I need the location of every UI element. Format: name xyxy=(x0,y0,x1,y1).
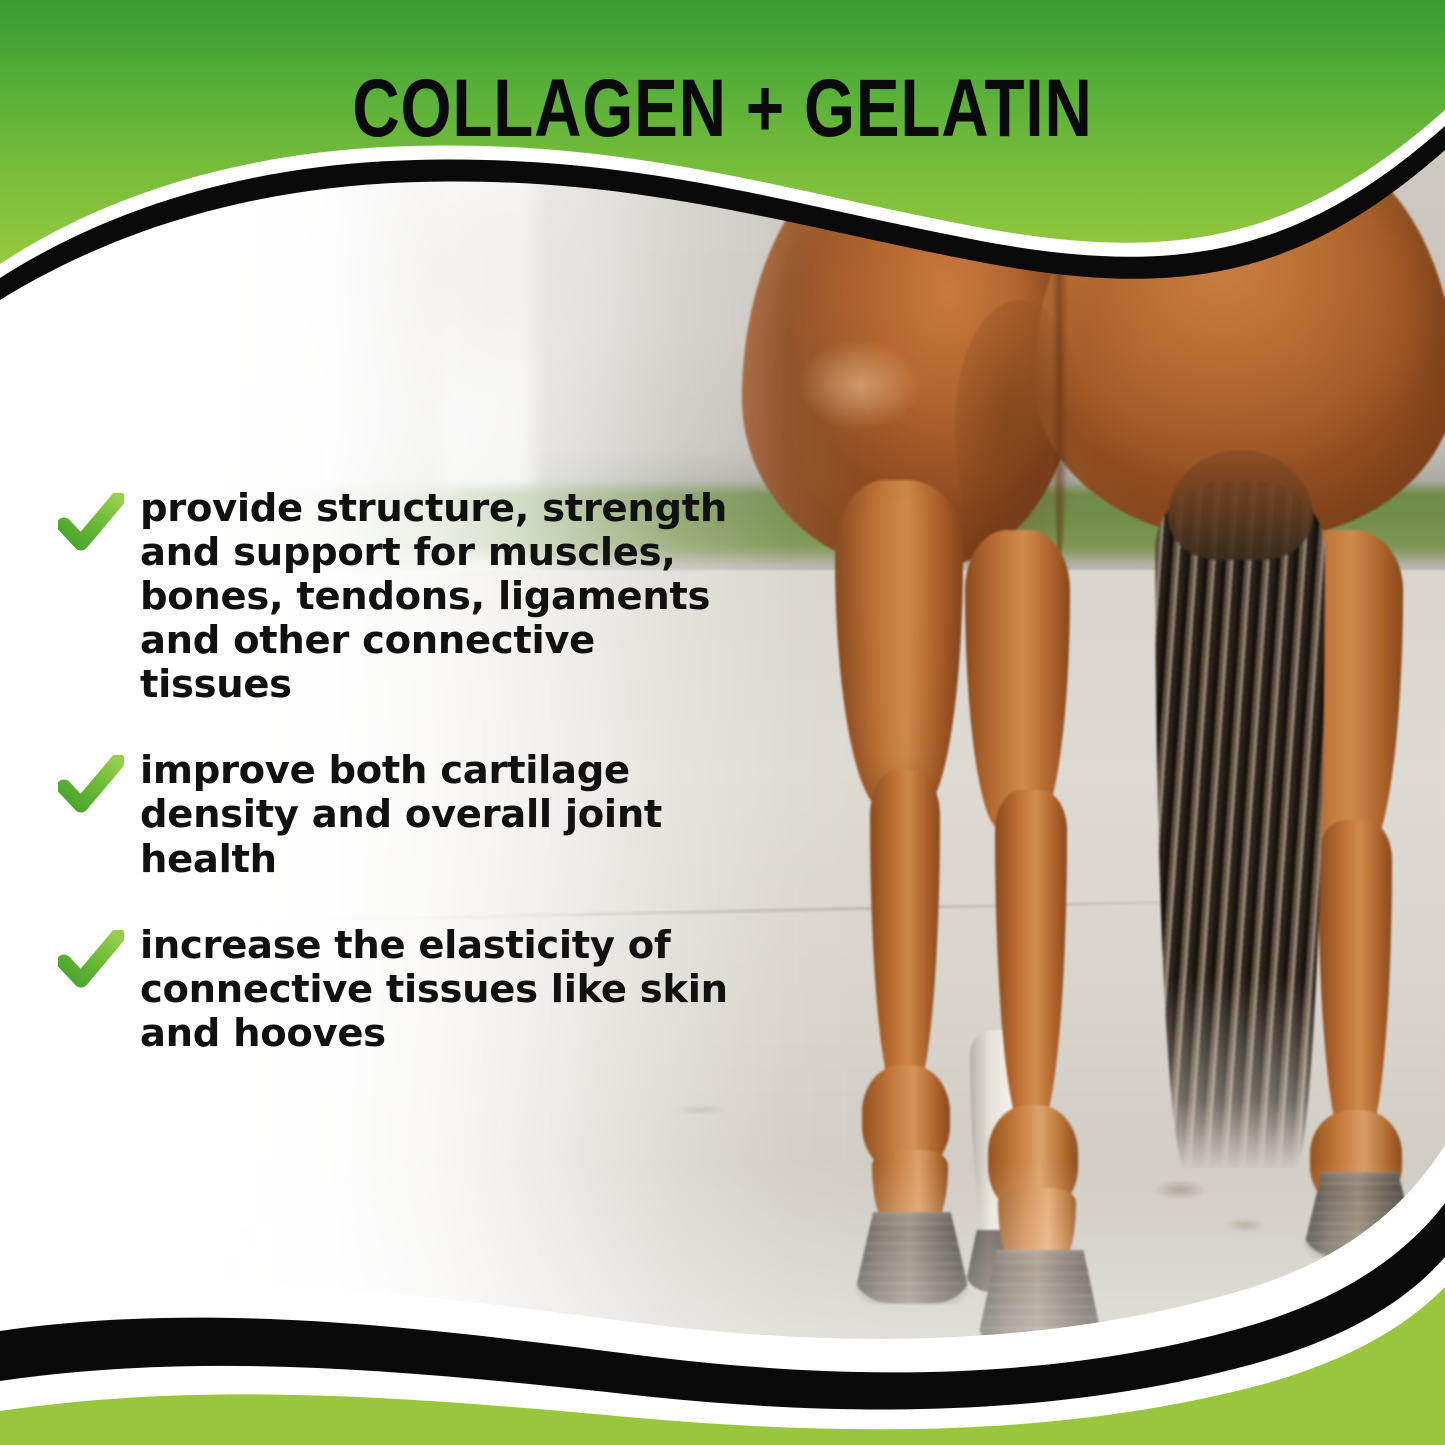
benefit-text: increase the elasticity of connective ti… xyxy=(140,924,728,1056)
benefit-item: increase the elasticity of connective ti… xyxy=(58,924,758,1056)
benefit-text: provide structure, strength and support … xyxy=(140,487,758,707)
benefit-item: improve both cartilage density and overa… xyxy=(58,749,758,881)
benefits-list: provide structure, strength and support … xyxy=(58,487,758,1056)
page-title: COLLAGEN + GELATIN xyxy=(145,68,1301,150)
poster: COLLAGEN + GELATIN xyxy=(0,0,1445,1445)
benefit-text: improve both cartilage density and overa… xyxy=(140,749,662,881)
check-icon xyxy=(58,755,124,817)
check-icon xyxy=(58,493,124,555)
benefit-item: provide structure, strength and support … xyxy=(58,487,758,707)
check-icon xyxy=(58,930,124,992)
